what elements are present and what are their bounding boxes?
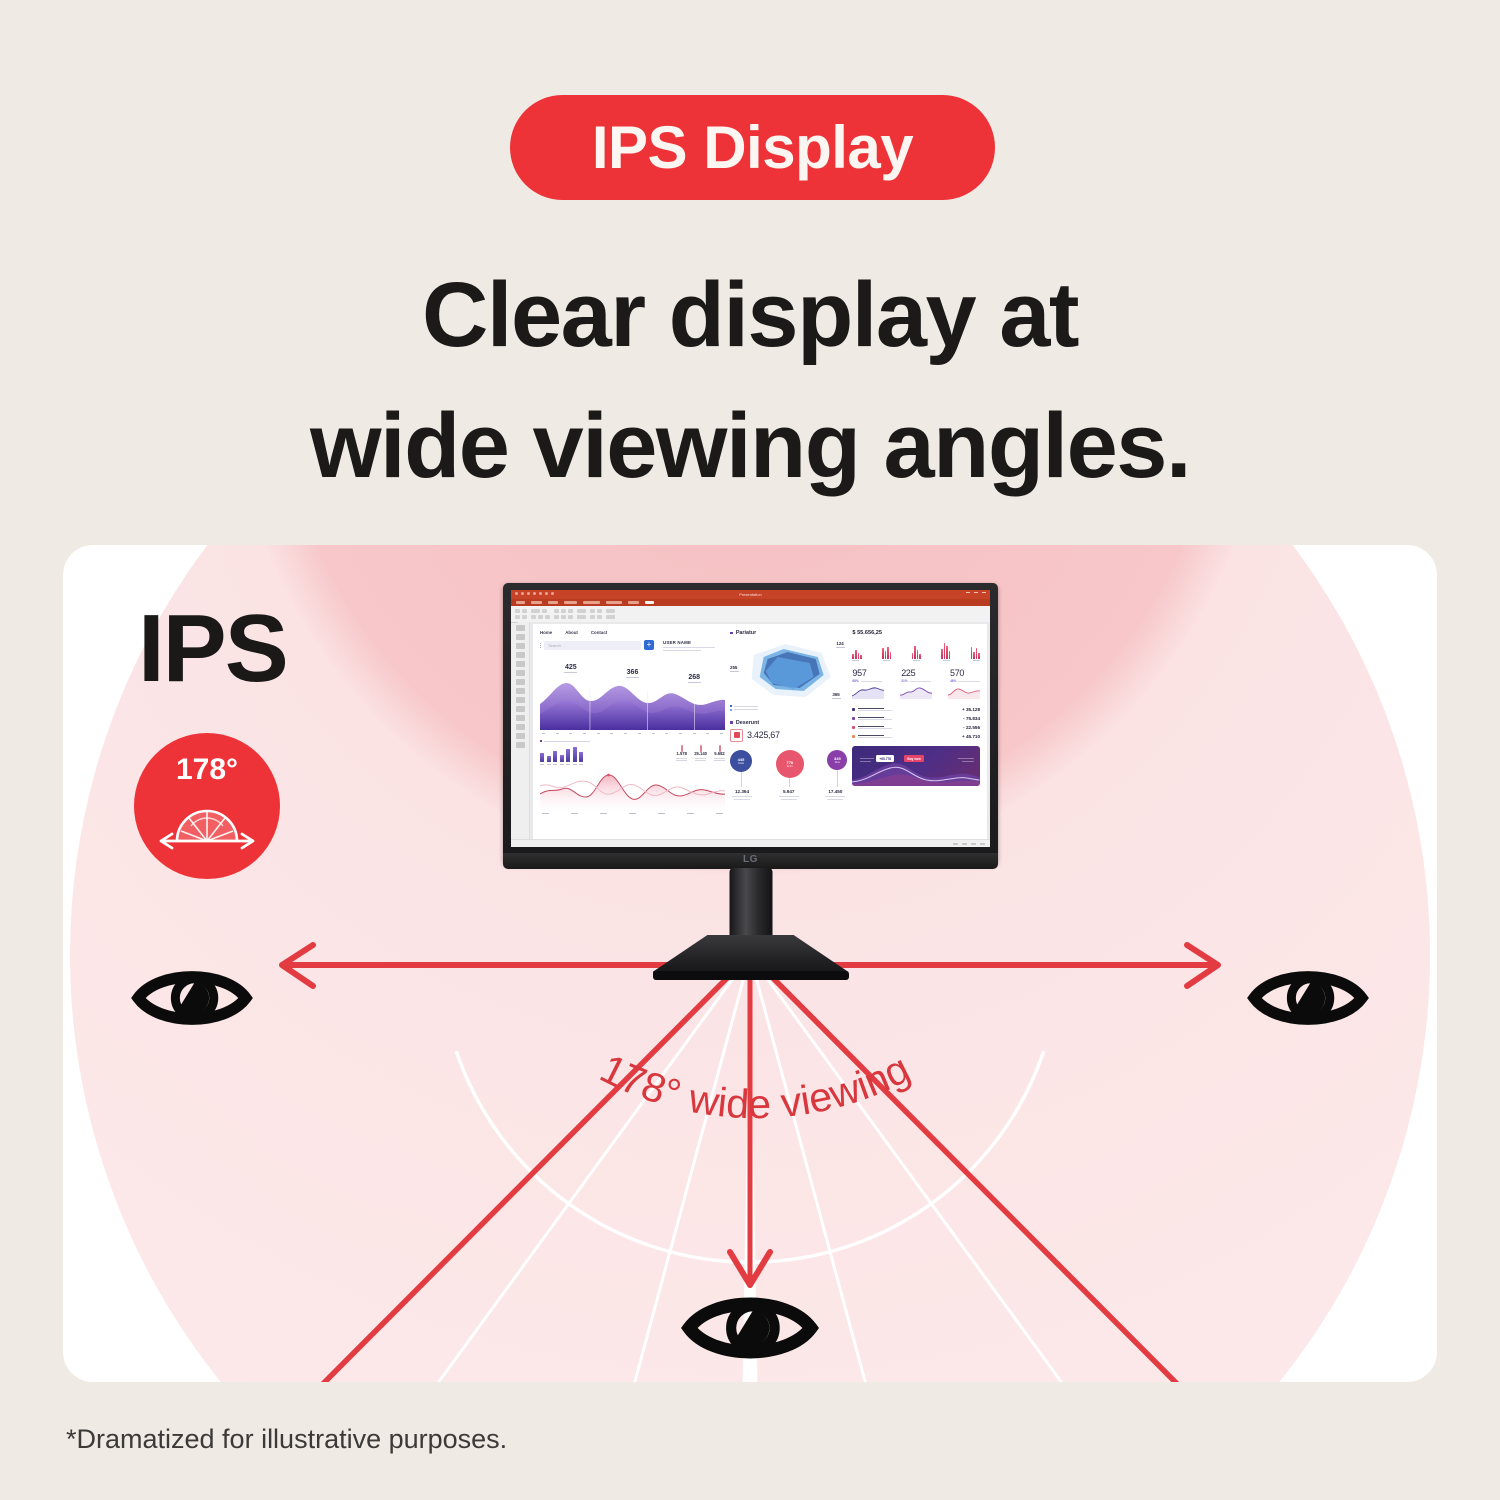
ips-wordmark: IPS: [138, 601, 287, 697]
line-chart-axis: [540, 813, 725, 814]
big-number-2-value: 225: [901, 668, 915, 678]
section-marker-2: [730, 721, 733, 724]
metric-row-1-value: + 35.128: [959, 707, 980, 712]
radar-label-1: 124: [836, 641, 845, 648]
revenue-total: $ 55.656,25: [852, 630, 980, 636]
big-number-3: 570 48%: [950, 668, 980, 683]
viewing-fan-icon: [151, 793, 263, 855]
search-row: Search + USER NAME: [540, 640, 725, 651]
badge-label: IPS Display: [592, 113, 913, 182]
dashboard-app: Presentation: [511, 590, 990, 847]
app-title: Presentation: [739, 592, 761, 597]
big-number-3-pct: 48%: [950, 679, 956, 683]
ips-degrees-label: 178°: [134, 753, 280, 787]
device-stat-2-line2: [695, 760, 706, 761]
bubble-value-2-text: 5.947: [783, 789, 795, 794]
bubble-3: 345 Duis: [827, 750, 847, 787]
device-stat-2-value: 25.140: [694, 751, 707, 756]
big-number-2-pct: 21%: [901, 679, 907, 683]
metrics-list: + 35.128 - 75.834: [852, 707, 980, 739]
bubble-row: 445 Nulla 778 Enim: [730, 750, 847, 787]
section-pariatur-header: Pariatur: [730, 630, 847, 636]
radar-label-3-value: 365: [832, 692, 839, 697]
user-meta-line-2: [663, 650, 701, 651]
nav-item-home[interactable]: Home: [540, 630, 552, 635]
big-numbers-row: 957 68% 225 21% 570 48%: [852, 668, 980, 683]
grid-icon: [730, 729, 743, 742]
radar-legend-item-2: [730, 709, 847, 711]
device-stat-3: 5.682: [714, 746, 725, 761]
bubble-values: 12.364 5.947 17.450: [730, 789, 847, 801]
radar-legend-item-1: [730, 705, 847, 707]
sparkline-1: [852, 685, 884, 699]
bubble-value-3-text: 17.450: [828, 789, 842, 794]
ribbon-toolbar[interactable]: [511, 606, 990, 623]
metric-row-3-value: - 22.556: [959, 725, 980, 730]
ips-display-badge: IPS Display: [510, 95, 995, 200]
deserunt-stat: 3.425,67: [730, 729, 847, 742]
bubble-2-sub: Enim: [787, 765, 793, 768]
disclaimer: *Dramatized for illustrative purposes.: [66, 1424, 507, 1455]
area-chart: [540, 674, 725, 730]
device-stat-3-line: [714, 758, 725, 759]
metric-row-1: + 35.128: [852, 707, 980, 712]
kpi-1-value: 425: [565, 664, 577, 671]
monitor-screen: Presentation: [511, 590, 990, 847]
bubble-1-sub: Nulla: [738, 762, 744, 765]
headline-line-2: wide viewing angles.: [0, 381, 1500, 512]
chart-caption: [540, 740, 725, 742]
radar-label-1-value: 124: [836, 641, 843, 646]
section-pariatur-title: Pariatur: [736, 630, 756, 636]
device-stats: 1.578 25.140: [589, 746, 725, 761]
kpi-1-underline: [564, 672, 577, 673]
radar-label-3-line: [832, 698, 841, 699]
sparkline-3: [948, 685, 980, 699]
area-chart-kpis: 425 366 268: [540, 657, 725, 673]
ips-angle-badge: 178°: [134, 733, 280, 879]
dashboard-column-right: $ 55.656,25: [852, 630, 980, 839]
status-bar[interactable]: [511, 839, 990, 847]
quick-access-icons: [515, 592, 554, 595]
big-number-1-value: 957: [852, 668, 866, 678]
section-deserunt-header: Deserunt: [730, 720, 847, 726]
radar-label-1-line: [836, 647, 845, 648]
bubble-value-1-text: 12.364: [735, 789, 749, 794]
ribbon-tabs[interactable]: [511, 599, 990, 606]
metric-row-2: - 75.834: [852, 716, 980, 721]
nav-item-about[interactable]: About: [565, 630, 578, 635]
mini-bar-chart: [852, 641, 980, 659]
monitor: Presentation: [503, 583, 998, 983]
sparkline-2: [900, 685, 932, 699]
nav-item-contact[interactable]: Contact: [591, 630, 607, 635]
line-chart: [540, 770, 725, 810]
page-title: Clear display at wide viewing angles.: [0, 250, 1500, 511]
deserunt-value: 3.425,67: [747, 730, 780, 740]
metric-row-4: + 45.710: [852, 734, 980, 739]
section-deserunt-title: Deserunt: [736, 720, 759, 726]
device-stat-2-line: [695, 758, 706, 759]
monitor-stand-neck: [729, 868, 772, 943]
user-meta-line-1: [663, 647, 715, 648]
slide-canvas: Home About Contact Search + USER NA: [530, 622, 990, 847]
device-stat-3-line2: [714, 760, 725, 761]
add-button[interactable]: +: [644, 640, 654, 650]
bubble-value-2: 5.947: [777, 789, 801, 801]
bubble-2: 778 Enim: [776, 750, 804, 787]
device-stat-1-line: [676, 758, 687, 759]
monitor-stand-base-lip: [653, 971, 849, 980]
radar-label-2-value: 255: [730, 665, 737, 670]
device-stat-3-value: 5.682: [714, 751, 725, 756]
dashboard-column-left: Home About Contact Search + USER NA: [540, 630, 725, 839]
radar-chart: 124 255 365: [730, 639, 847, 701]
bubble-value-1: 12.364: [730, 789, 754, 801]
lg-logo: LG: [743, 854, 758, 865]
device-stat-1-line2: [676, 760, 687, 761]
promo-graphic: IPS Display Clear display at wide viewin…: [0, 0, 1500, 1500]
area-chart-axis: [540, 733, 725, 734]
caption-marker: [540, 740, 542, 742]
search-input[interactable]: Search: [544, 641, 641, 650]
bubble-value-3: 17.450: [823, 789, 847, 801]
app-title-bar: Presentation: [511, 590, 990, 599]
big-number-1-pct: 68%: [852, 679, 858, 683]
big-number-3-value: 570: [950, 668, 964, 678]
sparkline-row: [852, 685, 980, 699]
metric-row-3: - 22.556: [852, 725, 980, 730]
mini-bar-labels: [852, 660, 980, 661]
dashboard-nav[interactable]: Home About Contact: [540, 630, 725, 635]
bar-chart-block: [540, 746, 583, 765]
slide: Home About Contact Search + USER NA: [533, 624, 987, 845]
headline-line-1: Clear display at: [422, 264, 1078, 366]
section-marker: [730, 632, 733, 635]
bar-chart-labels: [540, 764, 583, 765]
big-number-2: 225 21%: [901, 668, 931, 683]
radar-label-3: 365: [832, 692, 841, 699]
bar-chart: [540, 746, 583, 762]
user-name: USER NAME: [663, 640, 691, 645]
window-controls: [966, 592, 986, 593]
app-body: Home About Contact Search + USER NA: [511, 622, 990, 847]
caption-line: [544, 741, 590, 742]
radar-legend: [730, 705, 847, 711]
bubble-1: 445 Nulla: [730, 750, 752, 787]
bars-and-devices: 1.578 25.140: [540, 746, 725, 765]
bubble-3-sub: Duis: [835, 761, 840, 764]
device-stat-1: 1.578: [676, 746, 687, 761]
radar-label-2-line: [730, 671, 739, 672]
device-stat-1-value: 1.578: [676, 751, 687, 756]
kpi-1: 425: [564, 664, 577, 673]
slide-thumbnail-pane[interactable]: [511, 622, 530, 847]
big-number-1: 957 68%: [852, 668, 882, 683]
promo-panel: +65.778 Buy now: [852, 746, 980, 786]
dashboard-column-middle: Pariatur: [730, 630, 847, 839]
metric-row-2-value: - 75.834: [959, 716, 980, 721]
metric-row-4-value: + 45.710: [959, 734, 980, 739]
device-stat-2: 25.140: [694, 746, 707, 761]
radar-label-2: 255: [730, 665, 739, 672]
user-name-block: USER NAME: [657, 640, 725, 651]
more-options-icon[interactable]: [540, 643, 541, 649]
